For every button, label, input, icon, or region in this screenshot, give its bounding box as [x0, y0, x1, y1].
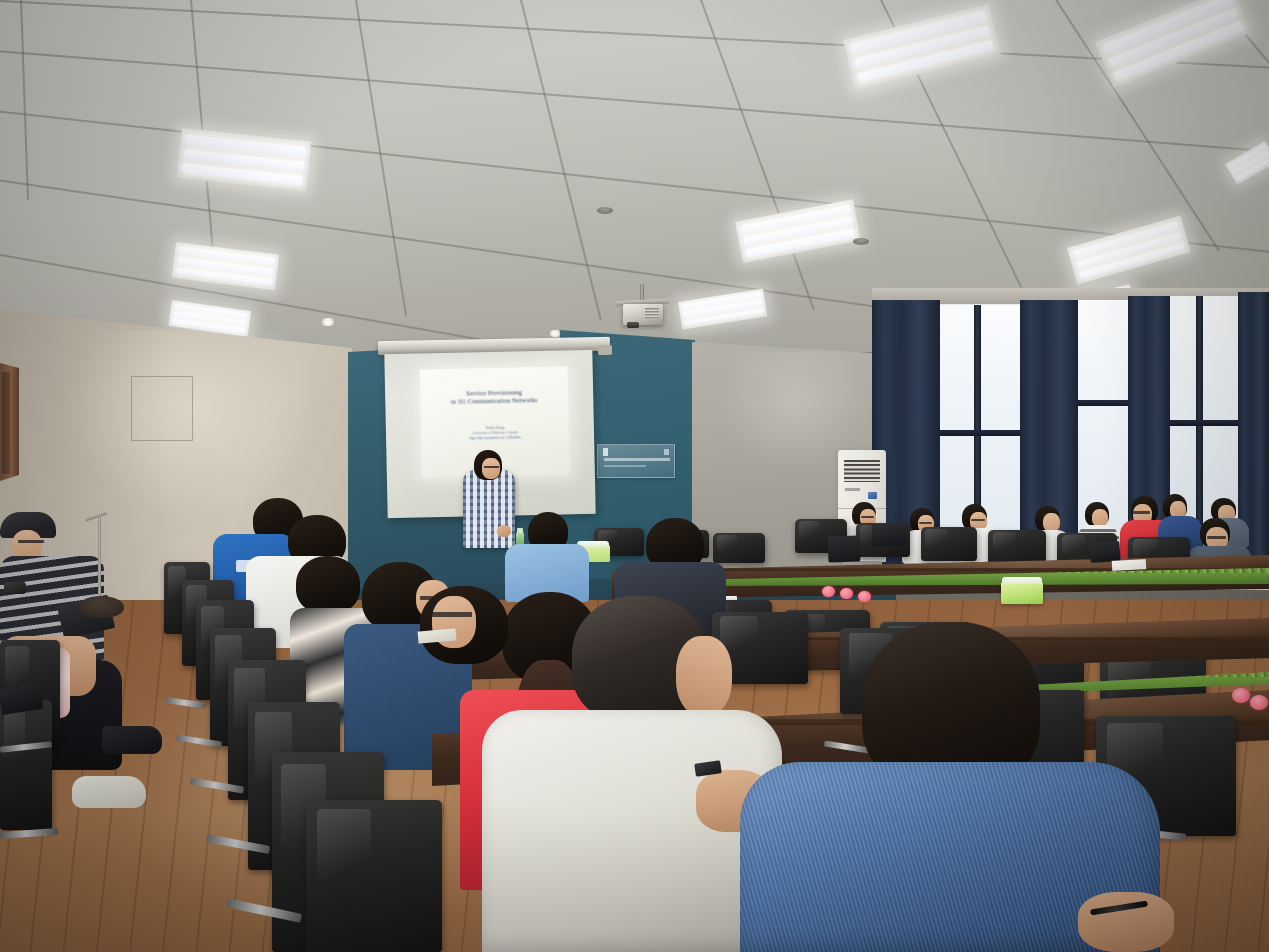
glasses-icon	[1133, 511, 1150, 514]
decorative-flower	[1232, 688, 1250, 703]
tissue-box	[1001, 582, 1043, 604]
person-face	[676, 636, 732, 716]
conference-chair[interactable]	[0, 700, 52, 830]
projector-vent	[645, 308, 659, 319]
bottle-cap	[517, 528, 523, 533]
glasses-icon	[18, 540, 44, 543]
person-head	[296, 556, 360, 614]
decorative-flower	[1250, 695, 1268, 710]
presenter-face	[482, 458, 500, 479]
plaque-marker-left	[603, 448, 608, 456]
tissue-box-lid	[1002, 577, 1042, 584]
window-mullion	[938, 430, 1022, 436]
decorative-flower	[858, 591, 871, 602]
person-hand	[1078, 892, 1174, 952]
wall-panel	[131, 376, 193, 441]
decorative-flower	[822, 586, 835, 597]
ac-vent-grille	[844, 460, 880, 482]
microphone-stand	[98, 516, 101, 596]
microphone-base	[78, 596, 124, 618]
shoe	[102, 726, 162, 754]
conference-chair[interactable]	[988, 530, 1046, 564]
paper-document	[1112, 559, 1146, 571]
window-mullion	[1168, 420, 1240, 426]
glasses-icon	[861, 516, 874, 518]
laptop[interactable]	[871, 523, 906, 547]
plaque-text-line	[604, 465, 646, 467]
projector-lens-icon	[627, 322, 639, 328]
conference-chair[interactable]	[713, 533, 765, 563]
smoke-detector-icon	[853, 238, 869, 245]
wristwatch	[4, 582, 26, 594]
wall-sign-plaque	[597, 444, 675, 478]
laptop[interactable]	[828, 535, 861, 562]
smoke-detector-icon	[597, 207, 613, 214]
shoe	[72, 776, 146, 808]
conference-chair[interactable]	[921, 527, 977, 561]
door[interactable]	[2, 372, 10, 474]
ceiling-downlight	[320, 318, 336, 326]
plaque-text-line	[604, 458, 670, 461]
projection-screen-end-cap	[598, 345, 612, 355]
glasses-icon	[919, 522, 932, 524]
glasses-icon	[971, 519, 985, 521]
conference-chair[interactable]	[306, 800, 442, 952]
glasses-icon	[484, 466, 499, 468]
ac-badge-icon	[868, 492, 877, 499]
seminar-room-photo: Service Provisioning in 5G Communication…	[0, 0, 1269, 952]
presenter-hand	[497, 525, 511, 537]
glasses-icon	[1207, 536, 1226, 539]
plaque-marker-right	[664, 449, 669, 455]
ceiling-downlight	[548, 330, 562, 337]
ac-brand-label	[845, 488, 860, 491]
window-mullion	[1076, 400, 1130, 406]
glasses-icon	[430, 612, 472, 617]
decorative-flower	[840, 588, 853, 599]
